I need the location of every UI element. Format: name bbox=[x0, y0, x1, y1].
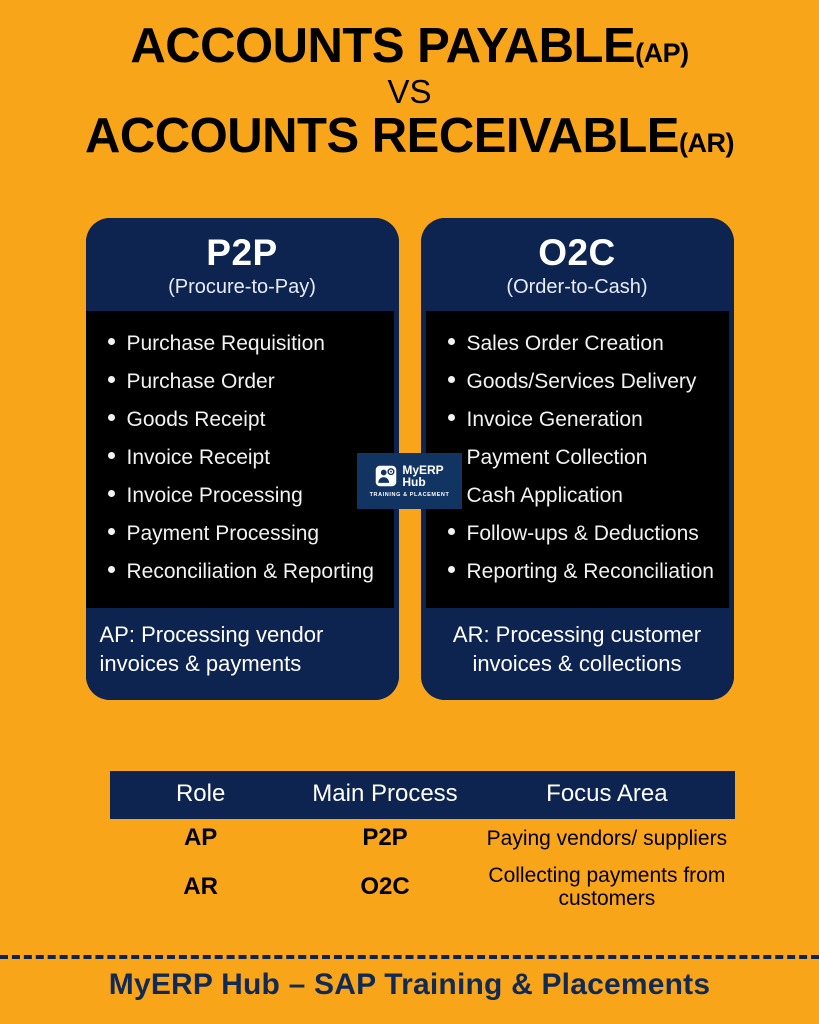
list-item-label: Reporting & Reconciliation bbox=[467, 561, 714, 582]
column-header-role: Role bbox=[110, 771, 291, 819]
bullet-dot-icon bbox=[108, 490, 115, 497]
card-o2c: O2C (Order-to-Cash) Sales Order Creation… bbox=[421, 218, 734, 700]
card-p2p-subtitle: (Procure-to-Pay) bbox=[94, 275, 391, 299]
card-p2p-list: Purchase Requisition Purchase Order Good… bbox=[86, 325, 394, 591]
title-main-ap: ACCOUNTS PAYABLE bbox=[130, 19, 635, 73]
title-line-accounts-receivable: ACCOUNTS RECEIVABLE(AR) bbox=[0, 112, 819, 161]
column-header-main-process: Main Process bbox=[291, 771, 479, 819]
bullet-dot-icon bbox=[448, 338, 455, 345]
bullet-dot-icon bbox=[108, 528, 115, 535]
logo-name: MyERP Hub bbox=[402, 464, 443, 488]
card-o2c-list: Sales Order Creation Goods/Services Deli… bbox=[426, 325, 729, 591]
list-item-label: Invoice Processing bbox=[127, 485, 303, 506]
list-item-label: Invoice Generation bbox=[467, 409, 643, 430]
card-o2c-subtitle: (Order-to-Cash) bbox=[429, 275, 726, 299]
list-item: Payment Processing bbox=[108, 515, 388, 553]
table-body: AP P2P Paying vendors/ suppliers AR O2C … bbox=[110, 819, 735, 917]
list-item-label: Invoice Receipt bbox=[127, 447, 271, 468]
table-header-row: Role Main Process Focus Area bbox=[110, 771, 735, 819]
list-item: Goods/Services Delivery bbox=[448, 363, 723, 401]
list-item: Purchase Order bbox=[108, 363, 388, 401]
list-item-label: Follow-ups & Deductions bbox=[467, 523, 699, 544]
list-item: Cash Application bbox=[448, 477, 723, 515]
list-item: Invoice Processing bbox=[108, 477, 388, 515]
list-item-label: Payment Collection bbox=[467, 447, 648, 468]
footer-brand-text: MyERP Hub – SAP Training & Placements bbox=[109, 968, 710, 1001]
list-item: Goods Receipt bbox=[108, 401, 388, 439]
table-head: Role Main Process Focus Area bbox=[110, 771, 735, 819]
card-p2p-footer: AP: Processing vendor invoices & payment… bbox=[86, 608, 399, 700]
table-row: AP P2P Paying vendors/ suppliers bbox=[110, 819, 735, 858]
cell-main-process: O2C bbox=[291, 858, 479, 917]
cell-role: AP bbox=[110, 819, 291, 858]
list-item-label: Reconciliation & Reporting bbox=[127, 561, 374, 582]
bullet-dot-icon bbox=[448, 528, 455, 535]
card-p2p-header: P2P (Procure-to-Pay) bbox=[86, 218, 399, 311]
list-item-label: Purchase Order bbox=[127, 371, 275, 392]
card-o2c-footer: AR: Processing customer invoices & colle… bbox=[421, 608, 734, 700]
cell-main-process: P2P bbox=[291, 819, 479, 858]
list-item-label: Purchase Requisition bbox=[127, 333, 325, 354]
logo-name-line2: Hub bbox=[402, 476, 443, 488]
title-abbr-ap: (AP) bbox=[635, 38, 689, 68]
person-gear-logo-icon bbox=[375, 465, 397, 487]
bullet-dot-icon bbox=[448, 414, 455, 421]
list-item: Purchase Requisition bbox=[108, 325, 388, 363]
list-item: Reconciliation & Reporting bbox=[108, 553, 388, 591]
bullet-dot-icon bbox=[108, 338, 115, 345]
card-o2c-code: O2C bbox=[429, 234, 726, 273]
bullet-dot-icon bbox=[448, 566, 455, 573]
list-item: Reporting & Reconciliation bbox=[448, 553, 723, 591]
footer-dashed-divider bbox=[0, 955, 819, 959]
title-abbr-ar: (AR) bbox=[679, 128, 734, 158]
bullet-dot-icon bbox=[108, 376, 115, 383]
card-o2c-header: O2C (Order-to-Cash) bbox=[421, 218, 734, 311]
list-item-label: Goods Receipt bbox=[127, 409, 266, 430]
list-item: Sales Order Creation bbox=[448, 325, 723, 363]
list-item-label: Cash Application bbox=[467, 485, 623, 506]
title-line-accounts-payable: ACCOUNTS PAYABLE(AP) bbox=[0, 22, 819, 71]
card-p2p-body: Purchase Requisition Purchase Order Good… bbox=[86, 311, 399, 608]
title-vs: VS bbox=[0, 75, 819, 108]
cell-role: AR bbox=[110, 858, 291, 917]
comparison-table: Role Main Process Focus Area AP P2P Payi… bbox=[110, 771, 735, 917]
cell-focus-area: Paying vendors/ suppliers bbox=[479, 819, 735, 858]
bullet-dot-icon bbox=[108, 452, 115, 459]
myerp-hub-logo-watermark: MyERP Hub TRAINING & PLACEMENT bbox=[357, 453, 462, 509]
table-row: AR O2C Collecting payments from customer… bbox=[110, 858, 735, 917]
list-item: Invoice Generation bbox=[448, 401, 723, 439]
cell-focus-area: Collecting payments from customers bbox=[479, 858, 735, 917]
card-o2c-body: Sales Order Creation Goods/Services Deli… bbox=[421, 311, 734, 608]
list-item: Invoice Receipt bbox=[108, 439, 388, 477]
list-item-label: Payment Processing bbox=[127, 523, 320, 544]
logo-tagline: TRAINING & PLACEMENT bbox=[370, 492, 450, 498]
page-title: ACCOUNTS PAYABLE(AP) VS ACCOUNTS RECEIVA… bbox=[0, 0, 819, 161]
card-p2p-code: P2P bbox=[94, 234, 391, 273]
list-item-label: Sales Order Creation bbox=[467, 333, 664, 354]
list-item: Payment Collection bbox=[448, 439, 723, 477]
card-p2p: P2P (Procure-to-Pay) Purchase Requisitio… bbox=[86, 218, 399, 700]
bullet-dot-icon bbox=[108, 414, 115, 421]
list-item-label: Goods/Services Delivery bbox=[467, 371, 697, 392]
bullet-dot-icon bbox=[108, 566, 115, 573]
title-main-ar: ACCOUNTS RECEIVABLE bbox=[85, 109, 679, 163]
column-header-focus-area: Focus Area bbox=[479, 771, 735, 819]
logo-row: MyERP Hub bbox=[375, 464, 443, 488]
footer-bar: MyERP Hub – SAP Training & Placements bbox=[0, 968, 819, 1002]
comparison-table-wrapper: Role Main Process Focus Area AP P2P Payi… bbox=[110, 771, 735, 917]
bullet-dot-icon bbox=[448, 376, 455, 383]
list-item: Follow-ups & Deductions bbox=[448, 515, 723, 553]
